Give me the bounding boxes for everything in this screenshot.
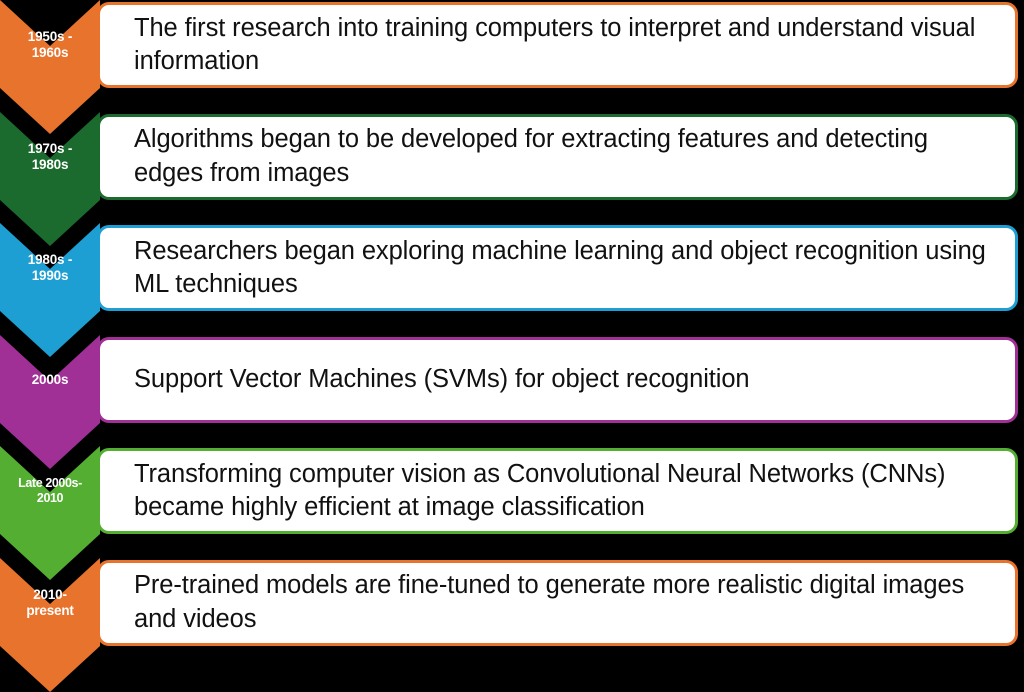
description-text: Researchers began exploring machine lear… (100, 235, 1015, 301)
description-box[interactable]: Algorithms began to be developed for ext… (97, 114, 1018, 200)
timeline-diagram: The first research into training compute… (0, 0, 1024, 684)
timeline-row: Transforming computer vision as Convolut… (0, 446, 1024, 558)
timeline-row: Pre-trained models are fine-tuned to gen… (0, 558, 1024, 670)
period-chevron[interactable]: 2010-present (0, 558, 100, 692)
description-box[interactable]: Pre-trained models are fine-tuned to gen… (97, 560, 1018, 646)
chevron-shape-icon (0, 558, 100, 692)
description-text: Support Vector Machines (SVMs) for objec… (100, 363, 1015, 396)
description-text: Transforming computer vision as Convolut… (100, 458, 1015, 524)
timeline-row: Researchers began exploring machine lear… (0, 223, 1024, 335)
timeline-row: The first research into training compute… (0, 0, 1024, 112)
timeline-row: Support Vector Machines (SVMs) for objec… (0, 335, 1024, 447)
description-text: Algorithms began to be developed for ext… (100, 123, 1015, 189)
description-text: The first research into training compute… (100, 12, 1015, 78)
description-box[interactable]: The first research into training compute… (97, 2, 1018, 88)
description-box[interactable]: Researchers began exploring machine lear… (97, 225, 1018, 311)
timeline-row: Algorithms began to be developed for ext… (0, 112, 1024, 224)
description-box[interactable]: Support Vector Machines (SVMs) for objec… (97, 337, 1018, 423)
description-box[interactable]: Transforming computer vision as Convolut… (97, 448, 1018, 534)
description-text: Pre-trained models are fine-tuned to gen… (100, 569, 1015, 635)
